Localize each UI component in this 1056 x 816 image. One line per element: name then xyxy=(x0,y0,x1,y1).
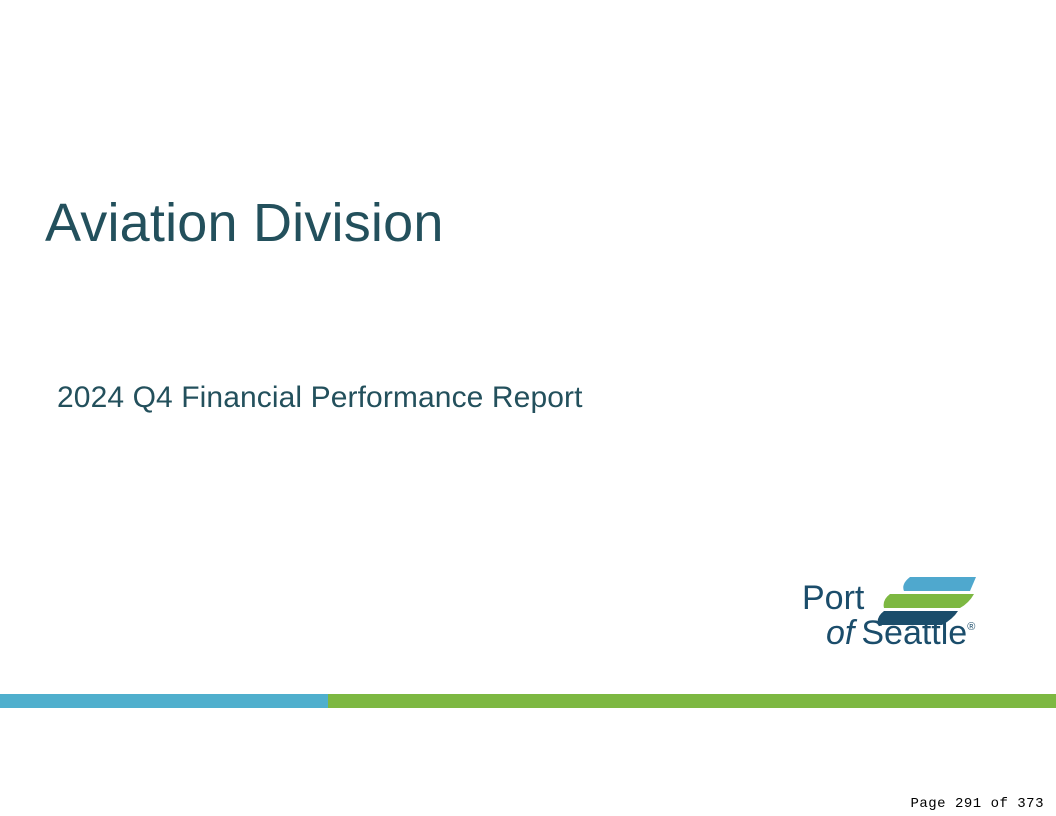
logo-bar-green-icon xyxy=(884,594,974,608)
accent-bar-green-segment xyxy=(328,694,1056,708)
accent-bar-blue-segment xyxy=(0,694,328,708)
slide-canvas: Aviation Division 2024 Q4 Financial Perf… xyxy=(0,0,1056,816)
page-title: Aviation Division xyxy=(45,195,444,252)
port-of-seattle-logo: Port ofSeattle® xyxy=(798,572,978,654)
logo-graphic: Port ofSeattle® xyxy=(798,572,978,654)
logo-word-of-seattle: ofSeattle® xyxy=(826,614,975,652)
page-number-label: Page 291 of 373 xyxy=(910,796,1044,812)
logo-word-port: Port xyxy=(802,579,865,617)
footer-accent-bar xyxy=(0,694,1056,708)
page-subtitle: 2024 Q4 Financial Performance Report xyxy=(57,381,583,414)
logo-bar-blue-icon xyxy=(903,577,976,591)
